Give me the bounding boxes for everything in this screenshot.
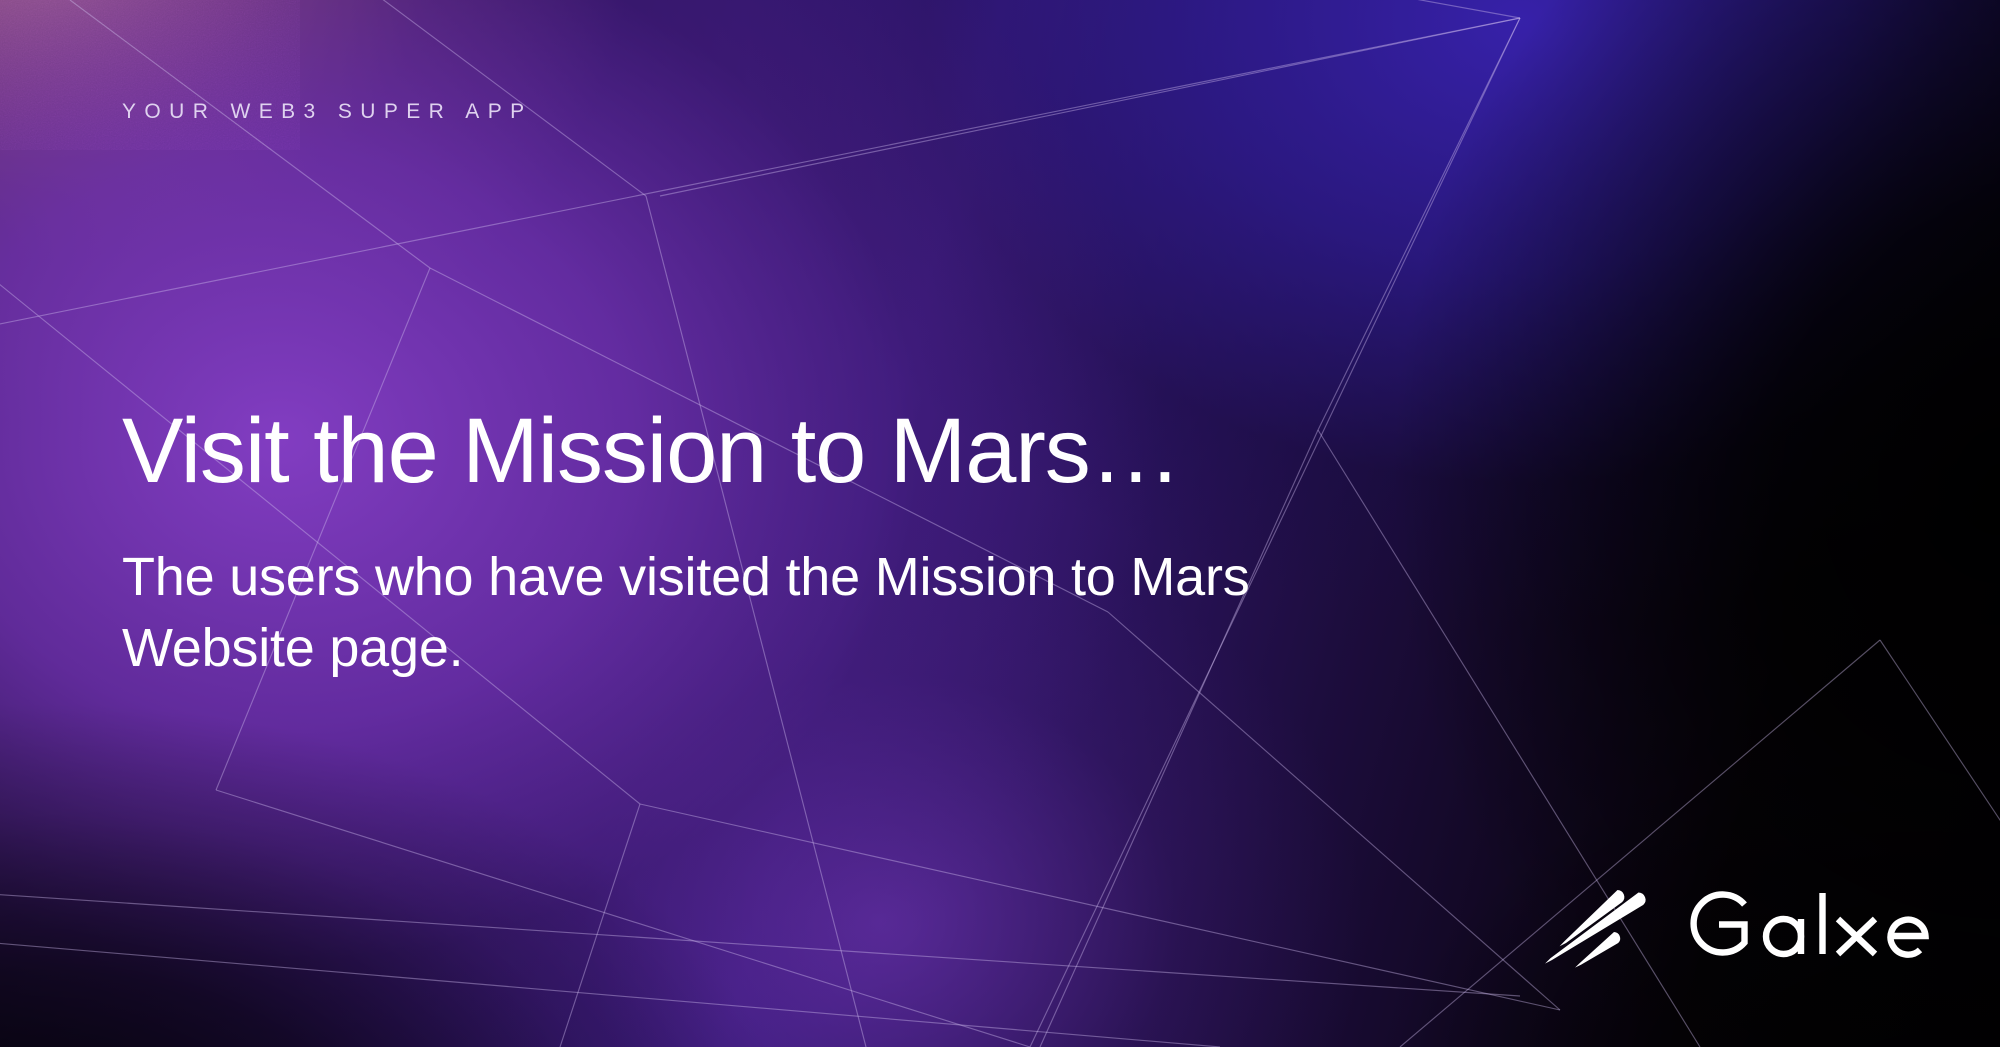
galxe-campaign-banner: YOUR WEB3 SUPER APP Visit the Mission to… [0, 0, 2000, 1047]
galxe-logo: Galxe [1542, 883, 1938, 969]
eyebrow-tagline: YOUR WEB3 SUPER APP [122, 100, 533, 124]
banner-content: YOUR WEB3 SUPER APP Visit the Mission to… [122, 0, 1622, 1047]
galxe-comet-streaks-icon [1542, 884, 1650, 968]
banner-subtitle: The users who have visited the Mission t… [122, 542, 1250, 685]
page-title: Visit the Mission to Mars… [122, 405, 1181, 497]
subtitle-line-1: The users who have visited the Mission t… [122, 542, 1250, 613]
subtitle-line-2: Website page. [122, 613, 1250, 684]
galxe-wordmark [1670, 883, 1938, 969]
